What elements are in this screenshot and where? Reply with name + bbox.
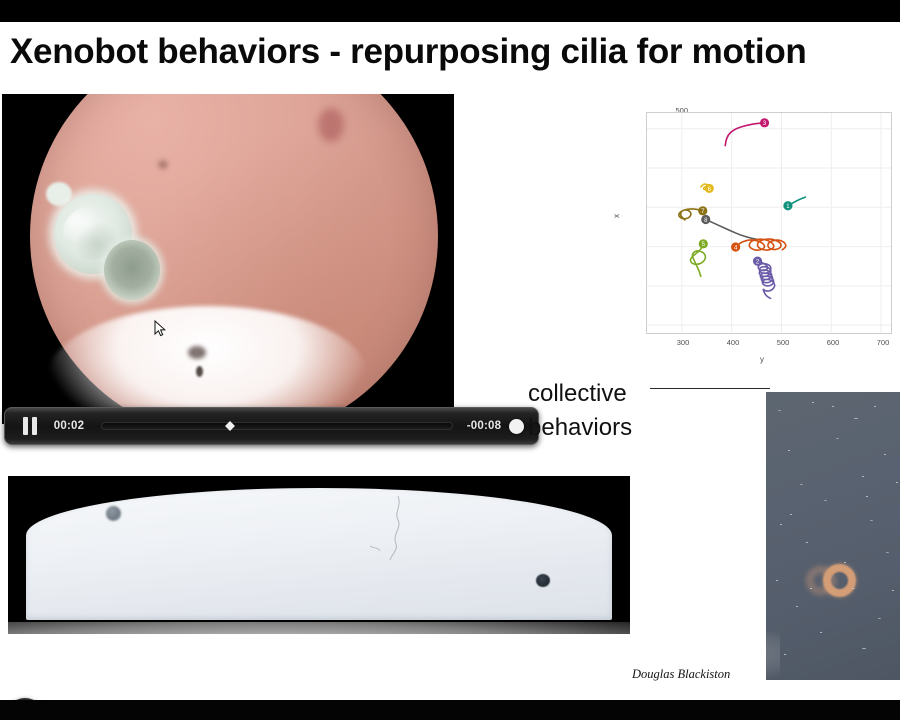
page-title: Xenobot behaviors - repurposing cilia fo…	[10, 32, 900, 72]
callout-line-1: collective	[528, 377, 632, 411]
debris-speck	[892, 590, 894, 591]
debris-speck	[796, 606, 798, 607]
xenobot-ring-focused	[823, 564, 856, 597]
chart-plot-panel: 36178542	[646, 112, 892, 334]
video-tray-brightfield[interactable]	[8, 476, 630, 634]
debris-speck	[812, 402, 814, 403]
debris-speck	[832, 406, 834, 407]
trajectory-chart: x y 500 400 300 200 100 0 300 400 500 60…	[610, 110, 898, 382]
surface-spot	[188, 346, 206, 359]
surface-spot	[158, 160, 168, 169]
debris-speck	[778, 410, 781, 411]
chart-x-tick: 500	[770, 338, 796, 347]
surface-spot	[318, 108, 344, 142]
callout-line-2: behaviors	[528, 411, 632, 445]
debris-speck	[896, 482, 898, 483]
chart-y-axis-label: x	[612, 214, 621, 218]
screen-root: Xenobot behaviors - repurposing cilia fo…	[0, 0, 900, 720]
callout-leader-line	[650, 388, 770, 389]
debris-speck	[806, 542, 808, 543]
debris-speck	[836, 438, 839, 439]
debris-speck	[874, 406, 876, 407]
debris-speck	[844, 562, 846, 563]
xenobot-particle	[536, 574, 550, 587]
debris-speck	[790, 514, 792, 515]
mouse-pointer-icon	[154, 320, 166, 337]
chart-canvas: 36178542	[647, 113, 891, 333]
debris-speck	[862, 476, 864, 477]
xenobot-body-lower	[104, 240, 160, 300]
chart-x-axis-label: y	[760, 355, 764, 364]
trajectory-path	[736, 239, 786, 250]
debris-speck	[800, 484, 803, 485]
scrubber-track[interactable]	[101, 422, 453, 430]
debris-speck	[810, 588, 812, 589]
debris-speck	[866, 496, 868, 497]
debris-speck	[862, 648, 866, 649]
surface-spot	[196, 366, 203, 377]
debris-speck	[784, 654, 786, 655]
debris-speck	[776, 580, 778, 581]
attribution-credit: Douglas Blackiston	[632, 667, 730, 682]
trajectory-path	[758, 261, 775, 298]
debris-speck	[878, 618, 881, 619]
chart-x-tick: 400	[720, 338, 746, 347]
remaining-time: -00:08	[459, 420, 509, 432]
scrubber-handle[interactable]	[225, 421, 235, 431]
debris-speck	[886, 552, 889, 553]
xenobot-particle	[106, 506, 121, 521]
video-main-microscopy[interactable]	[2, 94, 454, 424]
chart-x-tick: 600	[820, 338, 846, 347]
chart-x-tick: 300	[670, 338, 696, 347]
trajectory-path	[725, 123, 764, 146]
trajectory-path	[691, 244, 706, 277]
chart-x-tick: 700	[870, 338, 896, 347]
letterbox-bottom	[0, 700, 900, 720]
debris-speck	[870, 520, 873, 521]
letterbox-top	[0, 0, 900, 22]
debris-speck	[820, 632, 822, 633]
callout-collective-behaviors: collective behaviors	[528, 377, 632, 445]
presentation-slide: Xenobot behaviors - repurposing cilia fo…	[0, 22, 900, 700]
debris-speck	[824, 500, 827, 501]
debris-speck	[854, 418, 858, 419]
video-player-controls[interactable]: 00:02 -00:08	[4, 407, 539, 445]
video-toroidal-xenobots[interactable]	[766, 392, 900, 680]
debris-speck	[884, 454, 886, 455]
debris-speck	[788, 450, 790, 451]
elapsed-time: 00:02	[43, 420, 95, 432]
pause-icon[interactable]	[17, 415, 43, 437]
volume-knob-icon[interactable]	[509, 419, 524, 434]
debris-speck	[780, 524, 782, 525]
debris-speck	[852, 588, 855, 589]
debris-fiber	[368, 494, 428, 564]
